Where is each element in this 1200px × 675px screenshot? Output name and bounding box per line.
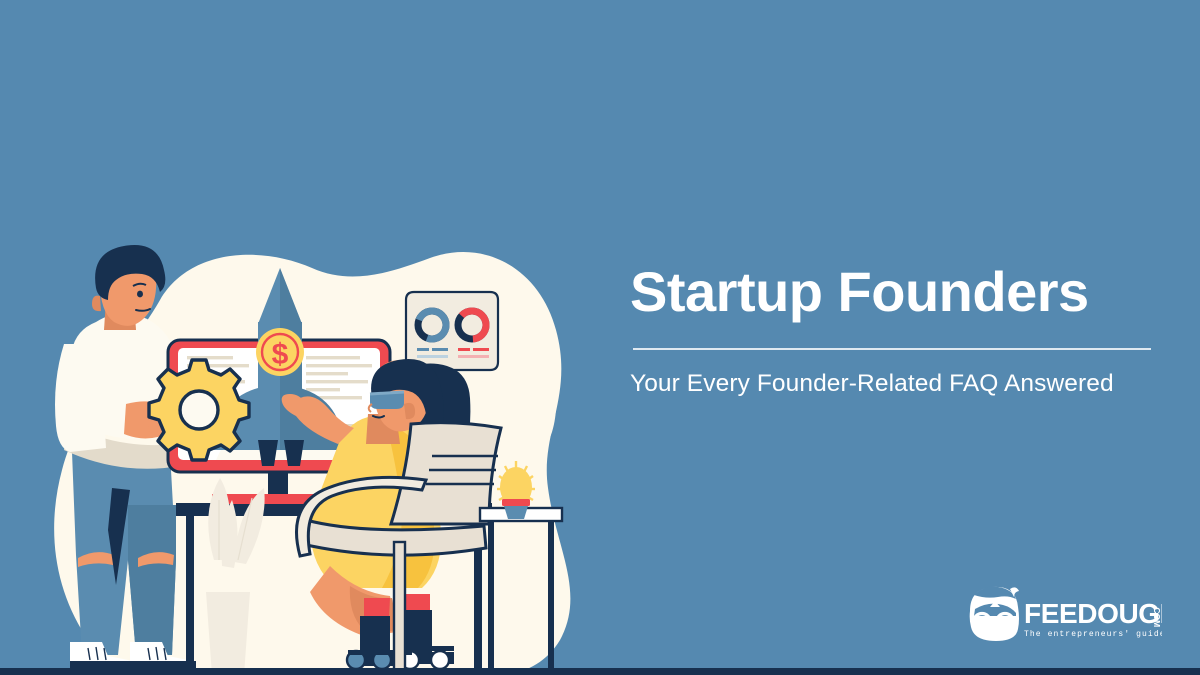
man-jeans-shade — [128, 505, 176, 655]
woman-glasses-icon — [370, 392, 404, 409]
dollar-sign-icon: $ — [272, 338, 289, 371]
gear-icon — [149, 360, 249, 460]
man-eye — [137, 291, 143, 298]
page-subtitle: Your Every Founder-Related FAQ Answered — [630, 370, 1155, 398]
feedough-logo[interactable]: FEEDOUGH .COM The entrepreneurs' guide — [962, 583, 1162, 643]
logo-tld: .COM — [1152, 605, 1162, 627]
logo-tagline: The entrepreneurs' guide — [1024, 630, 1162, 639]
page-title: Startup Founders — [630, 262, 1155, 322]
title-divider — [633, 348, 1151, 350]
desk-leg-left — [186, 516, 194, 675]
side-table-leg-left — [488, 521, 494, 675]
man-arm — [55, 344, 106, 452]
cactus-pot-rim — [502, 499, 530, 506]
man-shoe-sole-left — [70, 661, 136, 668]
floor-line — [0, 668, 1200, 675]
cactus-pot — [504, 506, 528, 519]
promo-banner: $ — [0, 0, 1200, 675]
side-table-leg-right — [548, 521, 554, 675]
logo-wordmark: FEEDOUGH — [1024, 598, 1162, 629]
man-ear — [92, 296, 101, 311]
headline-block: Startup Founders Your Every Founder-Rela… — [630, 262, 1155, 398]
chair-cylinder — [394, 542, 405, 672]
logo-face-icon — [970, 587, 1019, 641]
